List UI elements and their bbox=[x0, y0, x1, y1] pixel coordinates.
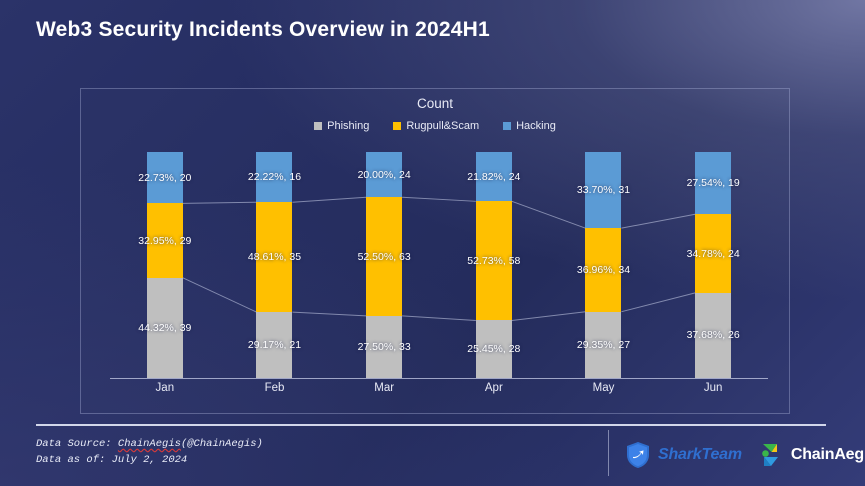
data-label-phishing: 44.32%, 39 bbox=[138, 322, 191, 334]
bar-segment-hacking[interactable]: 22.73%, 20 bbox=[147, 152, 183, 203]
x-tick-apr: Apr bbox=[444, 382, 544, 394]
chainaegis-wordmark: ChainAegis bbox=[791, 446, 865, 464]
x-tick-jun: Jun bbox=[663, 382, 763, 394]
bar-segment-hacking[interactable]: 20.00%, 24 bbox=[366, 152, 402, 197]
data-label-rugpull-scam: 36.96%, 34 bbox=[577, 264, 630, 276]
data-label-phishing: 29.35%, 27 bbox=[577, 339, 630, 351]
data-label-rugpull-scam: 48.61%, 35 bbox=[248, 251, 301, 263]
data-label-hacking: 20.00%, 24 bbox=[358, 169, 411, 181]
stacked-bar[interactable]: 22.22%, 1648.61%, 3529.17%, 21 bbox=[256, 152, 292, 378]
hourglass-icon bbox=[758, 441, 784, 469]
bar-group-mar: 20.00%, 2452.50%, 6327.50%, 33 bbox=[329, 152, 439, 378]
bar-segment-phishing[interactable]: 27.50%, 33 bbox=[366, 316, 402, 378]
bar-group-jan: 22.73%, 2032.95%, 2944.32%, 39 bbox=[110, 152, 220, 378]
data-source-line: Data Source: ChainAegis(@ChainAegis) bbox=[36, 436, 263, 452]
stacked-bar[interactable]: 33.70%, 3136.96%, 3429.35%, 27 bbox=[585, 152, 621, 378]
shield-icon bbox=[625, 441, 651, 469]
data-label-hacking: 27.54%, 19 bbox=[687, 177, 740, 189]
x-axis-line bbox=[110, 378, 768, 379]
plot-area: 22.73%, 2032.95%, 2944.32%, 3922.22%, 16… bbox=[110, 152, 768, 378]
bar-group-feb: 22.22%, 1648.61%, 3529.17%, 21 bbox=[220, 152, 330, 378]
bar-segment-hacking[interactable]: 22.22%, 16 bbox=[256, 152, 292, 202]
chainaegis-logo[interactable]: ChainAegis bbox=[758, 441, 865, 469]
bar-segment-rugpull-scam[interactable]: 52.73%, 58 bbox=[476, 201, 512, 320]
data-label-hacking: 22.22%, 16 bbox=[248, 171, 301, 183]
data-label-hacking: 22.73%, 20 bbox=[138, 172, 191, 184]
bar-segment-rugpull-scam[interactable]: 48.61%, 35 bbox=[256, 202, 292, 312]
x-tick-feb: Feb bbox=[225, 382, 325, 394]
bar-segment-hacking[interactable]: 27.54%, 19 bbox=[695, 152, 731, 214]
bar-segment-phishing[interactable]: 29.35%, 27 bbox=[585, 312, 621, 378]
data-label-rugpull-scam: 52.50%, 63 bbox=[358, 251, 411, 263]
slide-background: Web3 Security Incidents Overview in 2024… bbox=[0, 0, 865, 486]
sharkteam-logo[interactable]: SharkTeam bbox=[625, 441, 742, 469]
bar-group-jun: 27.54%, 1934.78%, 2437.68%, 26 bbox=[658, 152, 768, 378]
bar-segment-rugpull-scam[interactable]: 36.96%, 34 bbox=[585, 228, 621, 312]
stacked-bar[interactable]: 20.00%, 2452.50%, 6327.50%, 33 bbox=[366, 152, 402, 378]
bar-segment-phishing[interactable]: 44.32%, 39 bbox=[147, 278, 183, 378]
bar-group-may: 33.70%, 3136.96%, 3429.35%, 27 bbox=[549, 152, 659, 378]
bar-group-apr: 21.82%, 2452.73%, 5825.45%, 28 bbox=[439, 152, 549, 378]
bar-segment-phishing[interactable]: 29.17%, 21 bbox=[256, 312, 292, 378]
data-source-suffix: (@ChainAegis) bbox=[181, 438, 263, 450]
brand-logos: SharkTeam ChainAegis bbox=[625, 440, 865, 470]
x-tick-may: May bbox=[554, 382, 654, 394]
x-tick-mar: Mar bbox=[334, 382, 434, 394]
data-label-phishing: 29.17%, 21 bbox=[248, 339, 301, 351]
data-label-rugpull-scam: 52.73%, 58 bbox=[467, 255, 520, 267]
bar-segment-hacking[interactable]: 33.70%, 31 bbox=[585, 152, 621, 228]
data-source-link[interactable]: ChainAegis bbox=[118, 438, 181, 450]
bar-segment-hacking[interactable]: 21.82%, 24 bbox=[476, 152, 512, 201]
data-label-hacking: 33.70%, 31 bbox=[577, 184, 630, 196]
data-label-rugpull-scam: 34.78%, 24 bbox=[687, 248, 740, 260]
data-label-phishing: 25.45%, 28 bbox=[467, 343, 520, 355]
x-tick-jan: Jan bbox=[115, 382, 215, 394]
data-label-rugpull-scam: 32.95%, 29 bbox=[138, 235, 191, 247]
data-source-prefix: Data Source: bbox=[36, 438, 118, 450]
page-title: Web3 Security Incidents Overview in 2024… bbox=[36, 18, 490, 42]
bar-segment-rugpull-scam[interactable]: 52.50%, 63 bbox=[366, 197, 402, 316]
data-label-phishing: 27.50%, 33 bbox=[358, 341, 411, 353]
footer-text: Data Source: ChainAegis(@ChainAegis) Dat… bbox=[36, 436, 263, 468]
stacked-bar[interactable]: 27.54%, 1934.78%, 2437.68%, 26 bbox=[695, 152, 731, 378]
sharkteam-wordmark: SharkTeam bbox=[658, 446, 742, 464]
footer-rule bbox=[36, 424, 826, 426]
stacked-bar[interactable]: 21.82%, 2452.73%, 5825.45%, 28 bbox=[476, 152, 512, 378]
bar-segment-phishing[interactable]: 25.45%, 28 bbox=[476, 320, 512, 378]
bar-segment-rugpull-scam[interactable]: 32.95%, 29 bbox=[147, 203, 183, 277]
bar-segment-phishing[interactable]: 37.68%, 26 bbox=[695, 293, 731, 378]
footer-divider bbox=[608, 430, 609, 476]
data-as-of-line: Data as of: July 2, 2024 bbox=[36, 452, 263, 468]
data-label-hacking: 21.82%, 24 bbox=[467, 171, 520, 183]
data-label-phishing: 37.68%, 26 bbox=[687, 329, 740, 341]
bar-segment-rugpull-scam[interactable]: 34.78%, 24 bbox=[695, 214, 731, 293]
stacked-bar[interactable]: 22.73%, 2032.95%, 2944.32%, 39 bbox=[147, 152, 183, 378]
